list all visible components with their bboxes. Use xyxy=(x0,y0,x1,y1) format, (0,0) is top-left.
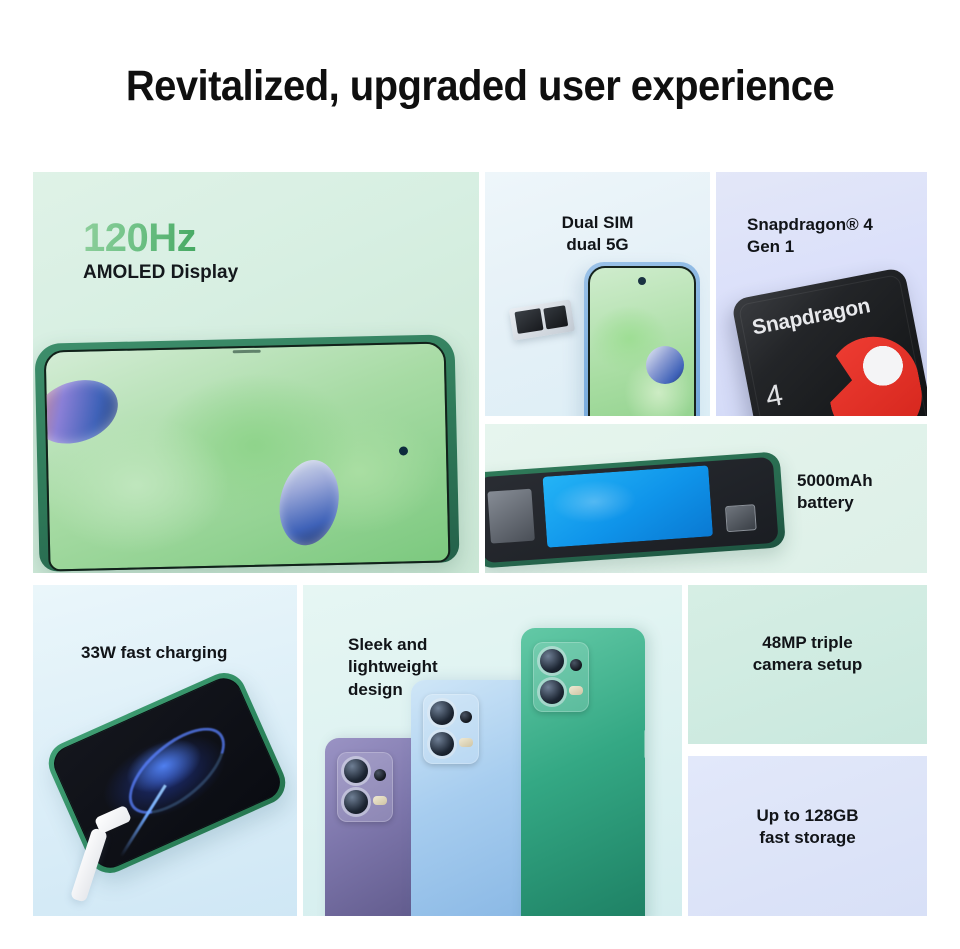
feature-grid: 120Hz AMOLED Display Dual SIM dual 5G xyxy=(33,172,927,916)
power-button-icon xyxy=(644,730,645,758)
wallpaper-lens-shape xyxy=(44,370,127,455)
chip-gen-text: Gen 1 xyxy=(771,414,820,416)
chip-brand-text: Snapdragon xyxy=(750,294,872,340)
charging-swirl-icon xyxy=(115,712,240,830)
display-subtitle: AMOLED Display xyxy=(83,262,238,284)
feature-card-dual-sim[interactable]: Dual SIM dual 5G xyxy=(485,172,710,416)
front-camera-icon xyxy=(638,277,646,285)
charging-phone-image xyxy=(42,666,293,880)
camera-module-icon xyxy=(337,752,393,822)
feature-card-fast-charging[interactable]: 33W fast charging xyxy=(33,585,297,916)
camera-lens-2 xyxy=(540,680,564,704)
wallpaper-lens-shape-2 xyxy=(272,455,345,550)
snapdragon-logo-icon xyxy=(819,329,927,416)
battery-cell-icon xyxy=(543,466,713,548)
phone-screen xyxy=(44,341,451,571)
feature-card-storage[interactable]: Up to 128GB fast storage xyxy=(688,756,927,916)
camera-lens-2 xyxy=(344,790,368,814)
camera-lens-1 xyxy=(430,701,454,725)
display-headline: 120Hz xyxy=(83,216,196,261)
camera-lens-3 xyxy=(460,711,472,723)
sim-card-2 xyxy=(543,305,568,329)
camera-lens-2 xyxy=(430,732,454,756)
dual-sim-label: Dual SIM dual 5G xyxy=(485,212,710,257)
camera-module-icon xyxy=(423,694,479,764)
internal-chip-icon xyxy=(725,504,757,532)
camera-flash-icon xyxy=(569,686,583,695)
phone-internals xyxy=(485,457,779,563)
feature-card-display[interactable]: 120Hz AMOLED Display xyxy=(33,172,479,573)
fast-charging-label: 33W fast charging xyxy=(81,642,227,664)
feature-card-battery[interactable]: 5000mAh battery xyxy=(485,424,927,573)
chip-number-text: 4 xyxy=(763,379,786,416)
battery-phone-image xyxy=(485,451,786,568)
camera-label: 48MP triple camera setup xyxy=(688,632,927,677)
camera-lens-1 xyxy=(540,649,564,673)
sim-phone-screen xyxy=(588,266,696,416)
storage-label: Up to 128GB fast storage xyxy=(688,805,927,850)
snapdragon-chip-image: Snapdragon 4 Gen 1 xyxy=(731,267,927,416)
feature-card-design[interactable]: Sleek and lightweight design xyxy=(303,585,682,916)
sim-tray-icon xyxy=(509,299,575,340)
internal-component xyxy=(487,489,535,544)
camera-flash-icon xyxy=(373,796,387,805)
sim-phone-image xyxy=(584,262,700,416)
phone-green xyxy=(521,628,645,916)
page-title: Revitalized, upgraded user experience xyxy=(34,62,927,111)
charging-screen xyxy=(48,673,285,874)
camera-flash-icon xyxy=(459,738,473,747)
design-label: Sleek and lightweight design xyxy=(348,634,438,701)
sim-card-1 xyxy=(514,308,543,334)
front-camera-icon xyxy=(399,446,408,455)
camera-lens-1 xyxy=(344,759,368,783)
earpiece-icon xyxy=(233,350,261,354)
camera-module-icon xyxy=(533,642,589,712)
battery-label: 5000mAh battery xyxy=(797,470,873,515)
camera-lens-3 xyxy=(570,659,582,671)
feature-card-camera[interactable]: 48MP triple camera setup xyxy=(688,585,927,744)
wallpaper-lens-shape xyxy=(646,346,684,384)
chipset-label: Snapdragon® 4 Gen 1 xyxy=(747,214,873,259)
feature-card-chipset[interactable]: Snapdragon® 4 Gen 1 Snapdragon 4 Gen 1 xyxy=(716,172,927,416)
camera-lens-3 xyxy=(374,769,386,781)
phone-landscape-image xyxy=(34,334,459,571)
